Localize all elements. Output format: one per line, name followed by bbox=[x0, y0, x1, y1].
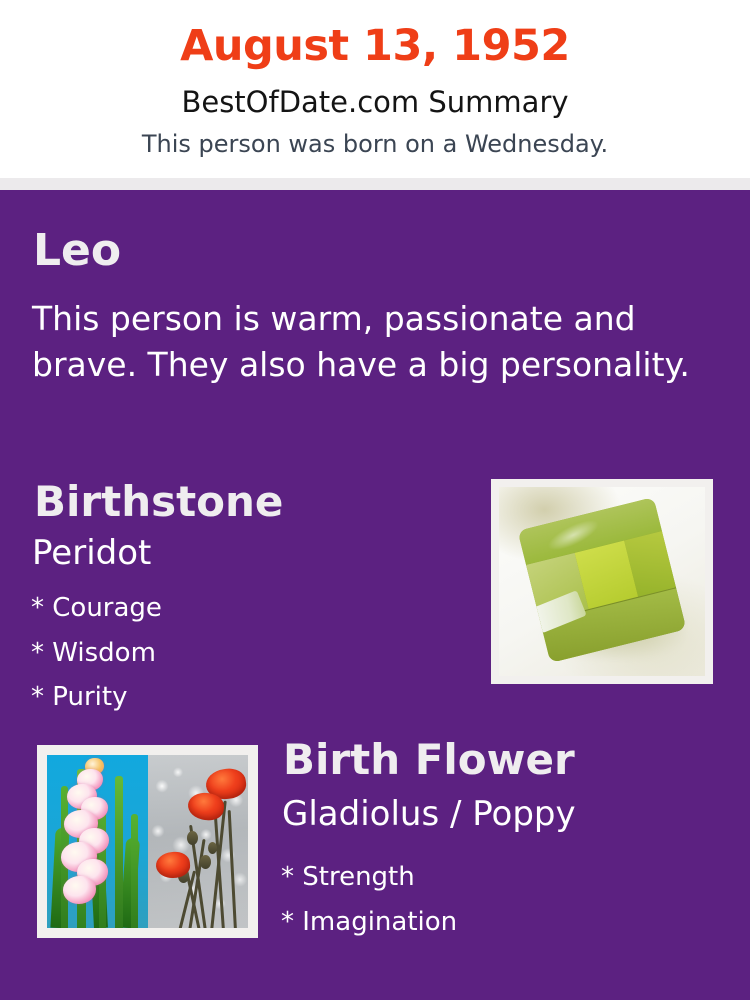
header-divider bbox=[0, 178, 750, 190]
birthstone-name: Peridot bbox=[32, 535, 151, 572]
zodiac-description: This person is warm, passionate and brav… bbox=[32, 296, 692, 387]
birthstone-image-inner bbox=[499, 487, 705, 676]
birth-flower-image bbox=[37, 745, 258, 938]
birthstone-heading: Birthstone bbox=[34, 480, 283, 524]
list-item: * Wisdom bbox=[31, 631, 451, 676]
gladiolus-photo-half bbox=[47, 755, 148, 928]
birth-flower-trait-list: * Strength * Imagination bbox=[281, 855, 701, 944]
birth-day-of-week: This person was born on a Wednesday. bbox=[0, 131, 750, 159]
poppy-photo-half bbox=[148, 755, 249, 928]
list-item: * Imagination bbox=[281, 900, 701, 945]
birth-flower-heading: Birth Flower bbox=[283, 738, 575, 782]
birth-flower-image-inner bbox=[47, 755, 248, 928]
list-item: * Purity bbox=[31, 675, 451, 720]
stem-icon bbox=[131, 814, 138, 928]
birthstone-image bbox=[491, 479, 713, 684]
page-title-date: August 13, 1952 bbox=[0, 22, 750, 71]
list-item: * Courage bbox=[31, 586, 451, 631]
birthstone-trait-list: * Courage * Wisdom * Purity bbox=[31, 586, 451, 720]
poppy-bud-icon bbox=[187, 831, 198, 845]
poppy-bud-icon bbox=[200, 855, 211, 869]
summary-card: August 13, 1952 BestOfDate.com Summary T… bbox=[0, 0, 750, 1000]
gladiolus-bloom-icon bbox=[63, 876, 96, 904]
zodiac-sign-heading: Leo bbox=[33, 228, 121, 274]
poppy-bud-icon bbox=[208, 842, 217, 854]
site-name: BestOfDate.com Summary bbox=[0, 86, 750, 119]
birth-flower-name: Gladiolus / Poppy bbox=[282, 796, 576, 833]
stem-icon bbox=[115, 776, 123, 928]
list-item: * Strength bbox=[281, 855, 701, 900]
card-header: August 13, 1952 BestOfDate.com Summary T… bbox=[0, 0, 750, 178]
